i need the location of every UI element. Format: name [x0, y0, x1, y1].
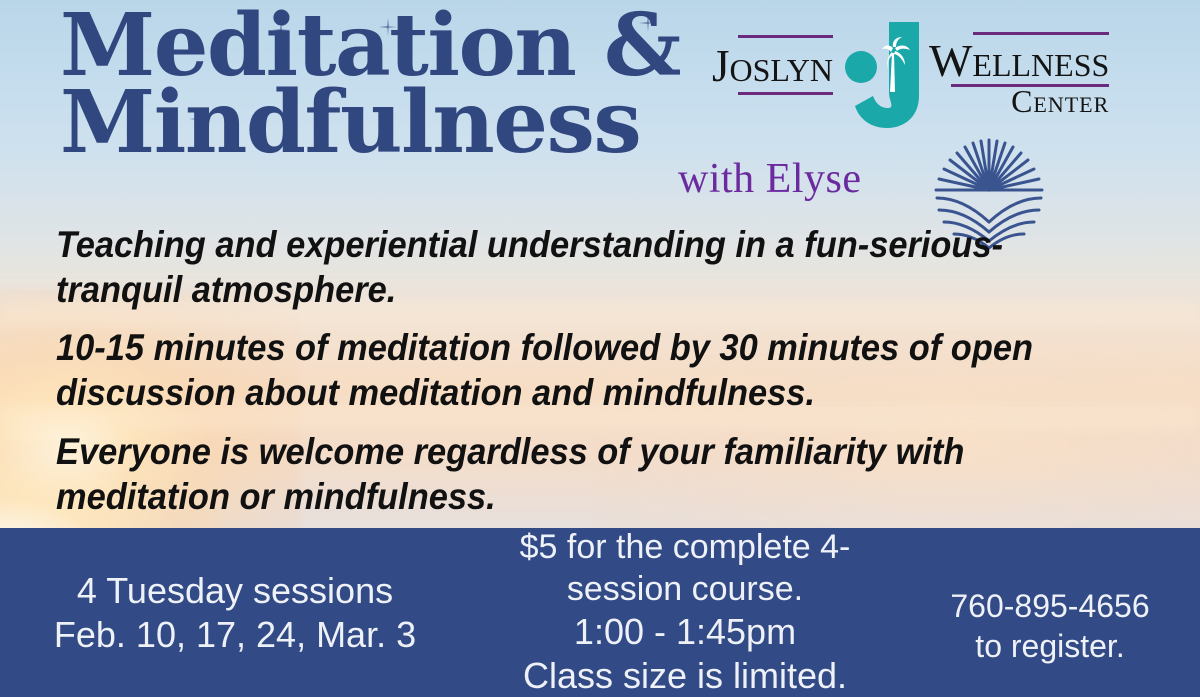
footer-contact-column: 760-895-4656 to register.	[900, 559, 1200, 665]
footer-price: $5 for the complete 4-session course.	[470, 527, 900, 610]
presenter-label: with Elyse	[678, 155, 861, 203]
page-title: Meditation & Mindfulness	[60, 6, 680, 164]
body-copy: Teaching and experiential understanding …	[56, 222, 1098, 519]
footer-phone-number[interactable]: 760-895-4656	[900, 587, 1200, 626]
footer-details-column: $5 for the complete 4-session course. 1:…	[470, 527, 900, 697]
footer-sessions-count: 4 Tuesday sessions	[0, 569, 470, 613]
logo-rule-bottom	[951, 84, 1109, 87]
logo-rule-top	[973, 32, 1109, 35]
footer-sessions-column: 4 Tuesday sessions Feb. 10, 17, 24, Mar.…	[0, 569, 470, 657]
logo-center-text: Center	[929, 85, 1109, 117]
footer-time: 1:00 - 1:45pm	[470, 610, 900, 654]
body-paragraph-3: Everyone is welcome regardless of your f…	[56, 429, 1098, 519]
footer-register-note: to register.	[900, 627, 1200, 666]
footer-session-dates: Feb. 10, 17, 24, Mar. 3	[0, 613, 470, 657]
logo-joslyn-wordmark: Joslyn	[712, 44, 833, 89]
title-line-2: Mindfulness	[60, 83, 680, 164]
body-paragraph-2: 10-15 minutes of meditation followed by …	[56, 325, 1098, 415]
logo-joslyn-text: Joslyn	[712, 41, 833, 91]
footer-bar: 4 Tuesday sessions Feb. 10, 17, 24, Mar.…	[0, 528, 1200, 697]
joslyn-wellness-center-logo: Joslyn Wellness	[712, 22, 1109, 132]
sparkle-icon	[273, 22, 289, 38]
logo-rule-bottom	[738, 92, 833, 95]
sparkle-icon	[380, 19, 396, 35]
sparkle-icon	[640, 15, 656, 31]
sparkle-icon	[190, 111, 206, 127]
logo-rule-top	[738, 35, 833, 38]
footer-class-size: Class size is limited.	[470, 654, 900, 697]
poster: Meditation & Mindfulness with Elyse Josl…	[0, 0, 1200, 697]
logo-wellness-text: Wellness	[929, 38, 1109, 84]
teal-j-palm-icon	[845, 22, 923, 130]
logo-wellness-wordmark: Wellness Center	[929, 38, 1109, 117]
body-paragraph-1: Teaching and experiential understanding …	[56, 222, 1098, 312]
